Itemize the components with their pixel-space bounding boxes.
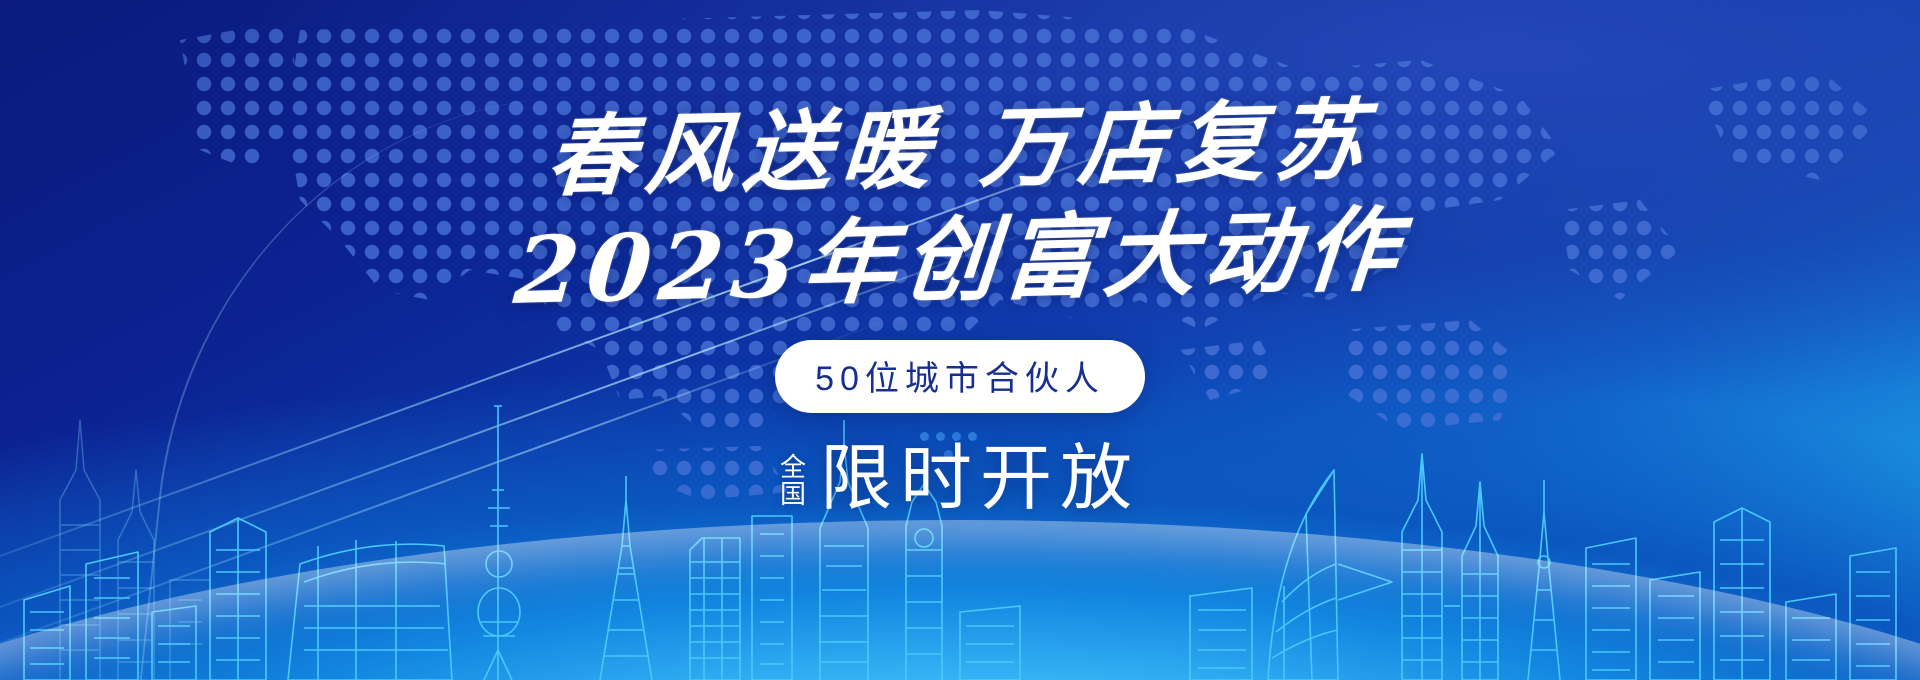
headline-line-1: 春风送暖 万店复苏 xyxy=(544,95,1376,200)
banner-content: 春风送暖 万店复苏 2023年创富大动作 50位城市合伙人 全 国 限时开放 xyxy=(0,0,1920,680)
cta-text-group: 全 国 限时开放 xyxy=(780,443,1140,515)
nationwide-label-top: 全 xyxy=(780,454,806,481)
partner-count-badge: 50位城市合伙人 xyxy=(775,340,1145,413)
nationwide-label-bottom: 国 xyxy=(780,481,806,508)
promo-banner: 春风送暖 万店复苏 2023年创富大动作 50位城市合伙人 全 国 限时开放 xyxy=(0,0,1920,680)
limited-time-open-text: 限时开放 xyxy=(820,443,1140,515)
nationwide-label: 全 国 xyxy=(780,450,806,509)
headline-line-2: 2023年创富大动作 xyxy=(511,203,1408,317)
